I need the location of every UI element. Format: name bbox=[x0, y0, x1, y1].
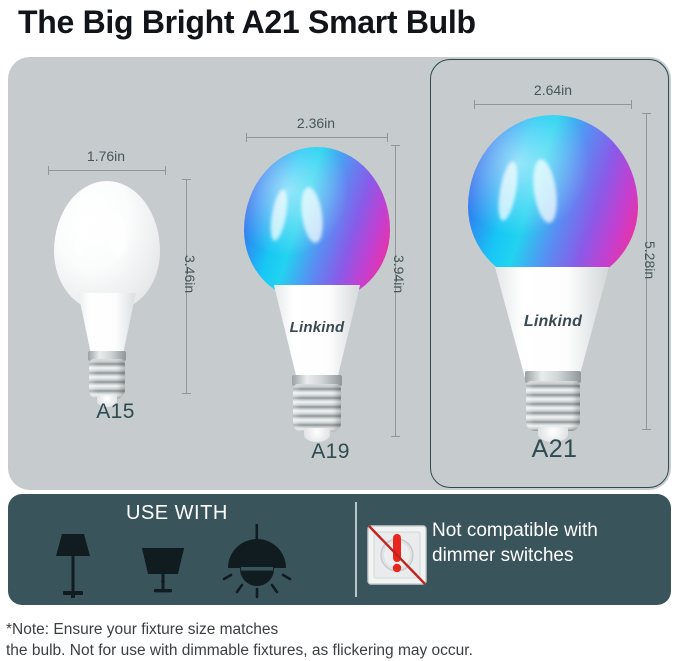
bulb-cell-a15: 1.76in 3.46in A15 bbox=[8, 57, 223, 457]
a15-neck bbox=[71, 293, 143, 355]
table-lamp-icon bbox=[132, 536, 194, 598]
incompatible-line-2: dimmer switches bbox=[432, 543, 598, 568]
a15-width-dimension-line bbox=[48, 170, 166, 171]
bulb-cell-a19: 2.36in 3.94in Linkind A19 bbox=[223, 57, 438, 477]
incompatible-text: Not compatible with dimmer switches bbox=[432, 518, 598, 568]
a15-width-label: 1.76in bbox=[46, 148, 166, 164]
a19-dome bbox=[244, 147, 390, 301]
footnote-line-2: the bulb. Not for use with dimmable fixt… bbox=[6, 640, 473, 661]
product-infographic: The Big Bright A21 Smart Bulb 1.76in 3.4… bbox=[0, 0, 679, 661]
bulb-image-a15 bbox=[42, 181, 172, 396]
footnote: *Note: Ensure your fixture size matches … bbox=[6, 619, 473, 661]
pendant-light-icon bbox=[220, 524, 294, 600]
a21-highlight-box bbox=[430, 59, 669, 488]
a19-width-label: 2.36in bbox=[251, 115, 381, 131]
page-title: The Big Bright A21 Smart Bulb bbox=[18, 4, 476, 41]
a15-height-label: 3.46in bbox=[182, 255, 198, 293]
use-with-icon-row bbox=[8, 524, 355, 600]
compatibility-bar: USE WITH bbox=[8, 494, 671, 605]
floor-lamp-icon bbox=[44, 530, 102, 600]
a19-width-dimension-line bbox=[246, 137, 388, 138]
a15-screw-base bbox=[89, 359, 125, 399]
a19-brand-text: Linkind bbox=[238, 319, 396, 336]
vertical-divider bbox=[355, 502, 357, 597]
bulb-image-a19: Linkind bbox=[238, 147, 396, 439]
a15-dome bbox=[54, 181, 160, 311]
a19-screw-base bbox=[293, 384, 341, 432]
bulb-label-a19: A19 bbox=[223, 440, 438, 464]
use-with-heading: USE WITH bbox=[126, 502, 228, 525]
footnote-line-1: *Note: Ensure your fixture size matches bbox=[6, 619, 473, 640]
dimmer-switch-crossed-icon bbox=[366, 524, 428, 586]
incompatible-line-1: Not compatible with bbox=[432, 518, 598, 543]
bulb-label-a15: A15 bbox=[8, 400, 223, 424]
